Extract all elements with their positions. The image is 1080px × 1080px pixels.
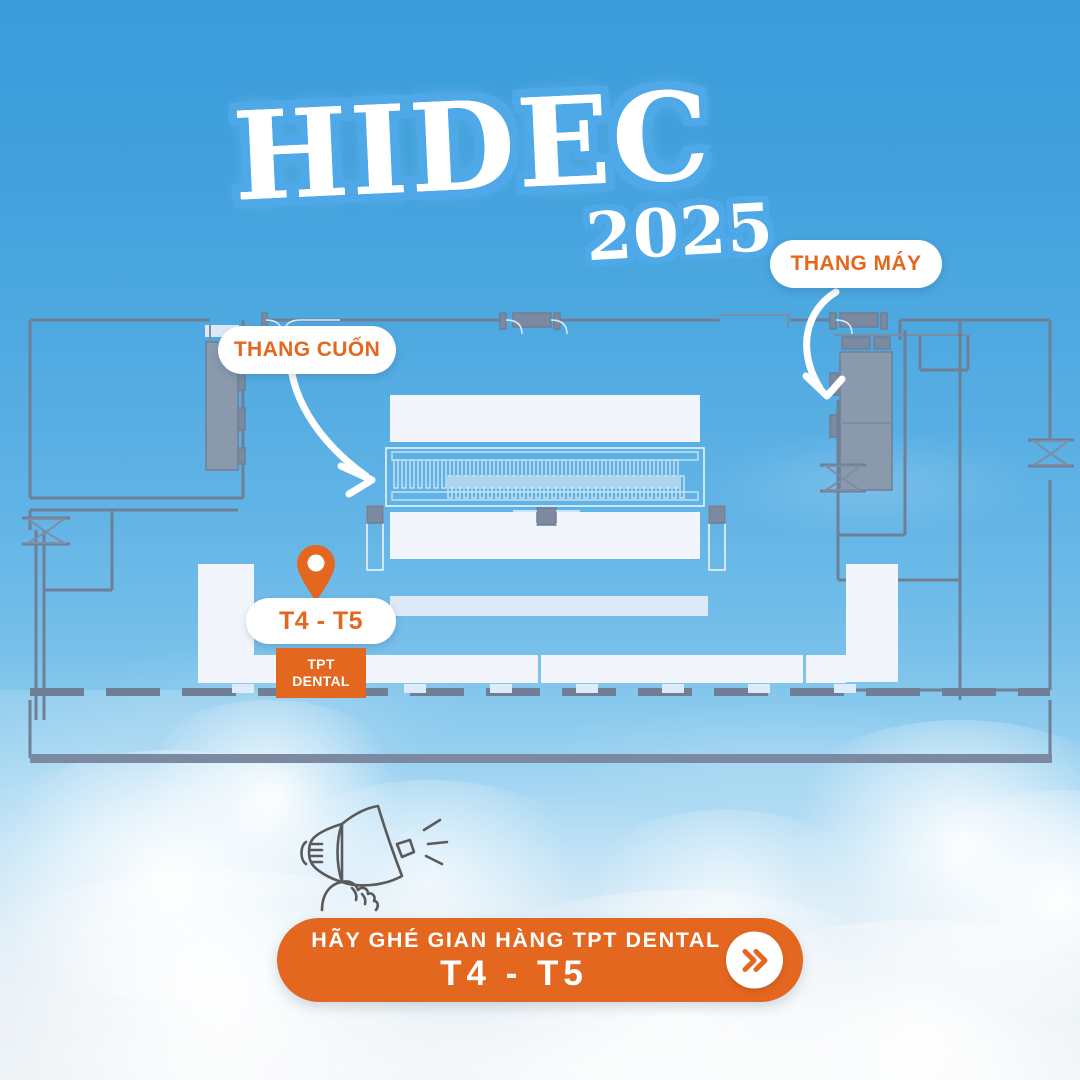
door-symbol: [1028, 440, 1074, 466]
plan-top-wall: [30, 313, 1050, 334]
cta-banner[interactable]: HÃY GHÉ GIAN HÀNG TPT DENTAL T4 - T5: [277, 918, 803, 1002]
double-chevron-right-icon[interactable]: [726, 932, 783, 989]
booth-tag[interactable]: TPT DENTAL: [276, 648, 366, 698]
megaphone-icon: [292, 792, 462, 917]
cta-booth-number: T4 - T5: [440, 954, 588, 994]
map-pin-icon: [296, 544, 336, 602]
plan-bottom-corridor: [30, 700, 1052, 763]
label-booth-location[interactable]: T4 - T5: [246, 598, 396, 644]
title-block: HIDEC 2025: [0, 38, 1080, 248]
booth-tag-line2: DENTAL: [292, 673, 350, 691]
plan-center-halls: [367, 395, 725, 616]
booth-tag-line1: TPT: [307, 656, 334, 674]
event-year: 2025: [584, 188, 776, 276]
plan-bottom-dashed: [30, 684, 1050, 693]
escalator-center: [386, 448, 704, 506]
cta-headline: HÃY GHÉ GIAN HÀNG TPT DENTAL: [311, 928, 721, 953]
label-escalator[interactable]: THANG CUỐN: [218, 326, 396, 374]
floor-plan: .w { stroke:#6e7f96; stroke-width:3; fil…: [0, 280, 1080, 790]
arrow-to-elevator: [806, 292, 842, 396]
poster-canvas: HIDEC 2025 .w { stroke:#6e7f96; stroke-w…: [0, 0, 1080, 1080]
label-elevator[interactable]: THANG MÁY: [770, 240, 942, 288]
